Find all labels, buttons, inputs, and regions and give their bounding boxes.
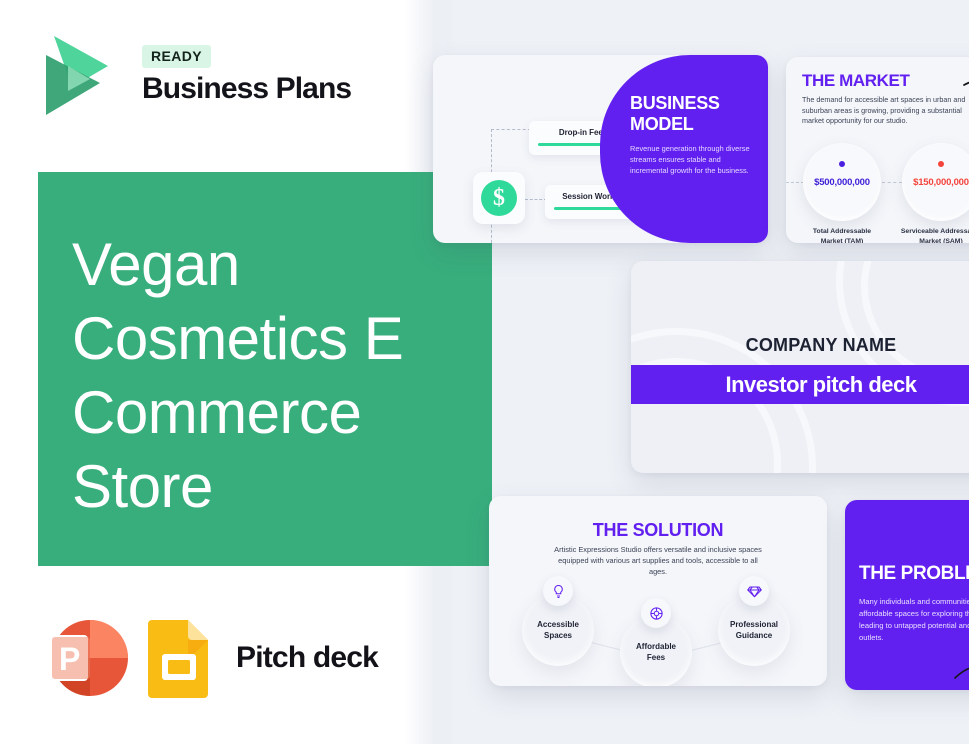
format-badges: P Pitch deck (42, 615, 378, 701)
brand-name: Business Plans (142, 72, 351, 106)
market-metric-value: $150,000,000 (913, 177, 969, 188)
poster-canvas: READY Business Plans Vegan Cosmetics E C… (0, 0, 969, 744)
business-model-headline-panel: BUSINESS MODEL Revenue generation throug… (600, 55, 768, 243)
ready-badge: READY (142, 45, 211, 68)
solution-pillar-label: Accessible Spaces (537, 619, 579, 641)
solution-description: Artistic Expressions Studio offers versa… (553, 544, 763, 577)
slide-thumb-cover[interactable]: COMPANY NAME Investor pitch deck (631, 261, 969, 473)
format-label: Pitch deck (236, 641, 378, 675)
business-model-title: BUSINESS MODEL (630, 93, 755, 135)
money-icon-box: $ (473, 172, 525, 224)
google-slides-icon (148, 618, 210, 698)
solution-pillar-label: Professional Guidance (730, 619, 778, 641)
slide-thumb-problem[interactable]: THE PROBLEM Many individuals and communi… (845, 500, 969, 690)
connector-line (525, 199, 547, 200)
slide-thumb-market[interactable]: THE MARKET The demand for accessible art… (786, 57, 969, 243)
cover-company-name: COMPANY NAME (631, 335, 969, 356)
brand-text-block: READY Business Plans (142, 45, 351, 106)
market-metric-circle: $500,000,000 (803, 143, 881, 221)
page-title: Vegan Cosmetics E Commerce Store (72, 228, 472, 524)
connector-line (491, 129, 531, 130)
business-model-description: Revenue generation through diverse strea… (630, 143, 755, 176)
solution-title: THE SOLUTION (489, 520, 827, 541)
curved-arrow-icon (953, 658, 969, 684)
slide-thumb-business-model[interactable]: $ Drop-in Fees Session Workshops Commiss… (433, 55, 768, 243)
cover-subtitle-band: Investor pitch deck (631, 365, 969, 404)
problem-description: Many individuals and communities lack ac… (859, 596, 969, 644)
solution-pillar-label: Affordable Fees (636, 641, 676, 663)
cover-subtitle: Investor pitch deck (725, 372, 916, 398)
market-metric-caption: Serviceable Addressable Market (SAM) (891, 227, 969, 243)
diamond-icon (739, 576, 769, 606)
metric-dot-icon (938, 161, 944, 167)
microsoft-powerpoint-icon: P (42, 615, 132, 701)
metric-dot-icon (839, 161, 845, 167)
market-description: The demand for accessible art spaces in … (802, 95, 969, 127)
svg-text:P: P (59, 641, 80, 677)
market-metric-value: $500,000,000 (814, 177, 870, 188)
slide-thumb-solution[interactable]: THE SOLUTION Artistic Expressions Studio… (489, 496, 827, 686)
target-icon (641, 598, 671, 628)
connector-line (882, 182, 902, 183)
brand-logo[interactable]: READY Business Plans (42, 33, 372, 119)
market-metric-caption: Total Addressable Market (TAM) (792, 227, 892, 243)
dollar-coin-icon: $ (481, 180, 517, 216)
connector-line (786, 182, 804, 183)
market-metric-circle: $150,000,000 (902, 143, 969, 221)
lightbulb-icon (543, 576, 573, 606)
problem-title: THE PROBLEM (859, 563, 969, 585)
curved-arrow-icon (962, 73, 969, 119)
market-title: THE MARKET (802, 71, 909, 91)
play-triangle-logo-icon (42, 33, 114, 119)
